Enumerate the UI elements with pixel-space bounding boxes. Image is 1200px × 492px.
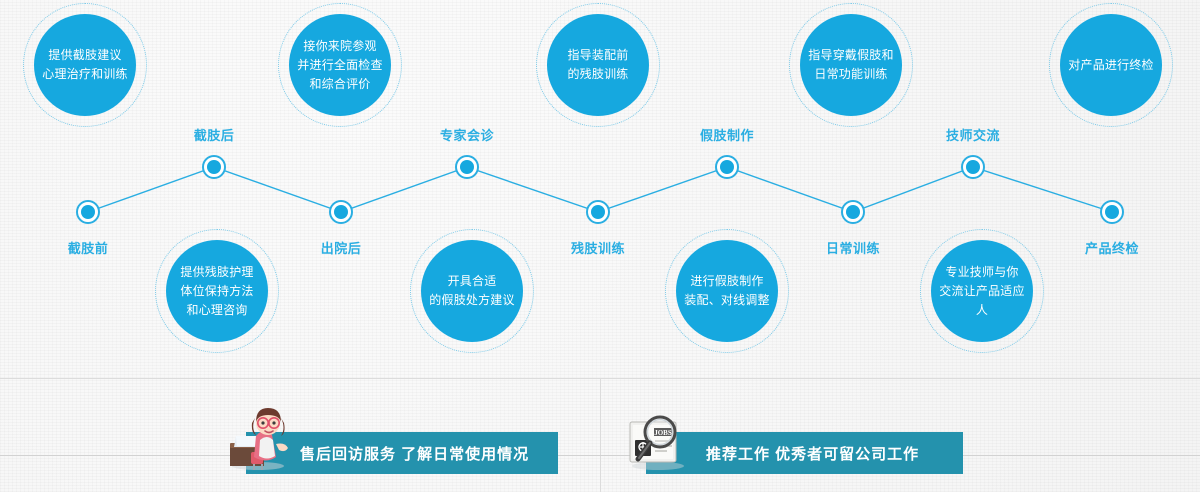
timeline-node[interactable] xyxy=(76,200,100,224)
timeline-node-dot xyxy=(591,205,605,219)
timeline-node-label: 技师交流 xyxy=(946,125,1000,144)
timeline-node-dot xyxy=(720,160,734,174)
info-bubble-text: 专业技师与你 交流让产品适应人 xyxy=(931,240,1033,342)
timeline-node[interactable] xyxy=(329,200,353,224)
info-bubble[interactable]: 指导穿戴假肢和 日常功能训练 xyxy=(789,3,913,127)
info-bubble[interactable]: 对产品进行终检 xyxy=(1049,3,1173,127)
timeline-node[interactable] xyxy=(455,155,479,179)
service-banner[interactable]: 售后回访服务 了解日常使用情况 xyxy=(246,432,558,474)
timeline-node-label: 截肢后 xyxy=(194,125,235,144)
service-banner-label: 推荐工作 优秀者可留公司工作 xyxy=(706,443,919,464)
info-bubble-text: 指导装配前 的残肢训练 xyxy=(547,14,649,116)
timeline-node[interactable] xyxy=(1100,200,1124,224)
banner-connector-left xyxy=(0,455,246,456)
timeline-node[interactable] xyxy=(586,200,610,224)
timeline-node-dot xyxy=(334,205,348,219)
timeline-node-label: 假肢制作 xyxy=(700,125,754,144)
timeline-node-label: 出院后 xyxy=(321,238,362,257)
infographic-canvas: 提供截肢建议 心理治疗和训练接你来院参观 并进行全面检查 和综合评价指导装配前 … xyxy=(0,0,1200,492)
timeline-node-dot xyxy=(81,205,95,219)
info-bubble[interactable]: 提供截肢建议 心理治疗和训练 xyxy=(23,3,147,127)
timeline-node-dot xyxy=(966,160,980,174)
banner-connector-right xyxy=(963,455,1200,456)
timeline-node-dot xyxy=(460,160,474,174)
info-bubble-text: 开具合适 的假肢处方建议 xyxy=(421,240,523,342)
timeline-node-label: 截肢前 xyxy=(68,238,109,257)
info-bubble-text: 对产品进行终检 xyxy=(1060,14,1162,116)
info-bubble-text: 进行假肢制作 装配、对线调整 xyxy=(676,240,778,342)
timeline-node[interactable] xyxy=(715,155,739,179)
timeline-node-label: 残肢训练 xyxy=(571,238,625,257)
banner-connector-middle xyxy=(558,455,646,456)
timeline-node-label: 日常训练 xyxy=(826,238,880,257)
service-banner[interactable]: 推荐工作 优秀者可留公司工作 xyxy=(646,432,963,474)
service-banner-label: 售后回访服务 了解日常使用情况 xyxy=(300,443,529,464)
timeline-node-label: 专家会诊 xyxy=(440,125,494,144)
info-bubble-text: 指导穿戴假肢和 日常功能训练 xyxy=(800,14,902,116)
section-divider-vertical xyxy=(600,379,601,492)
timeline-node[interactable] xyxy=(202,155,226,179)
info-bubble-text: 接你来院参观 并进行全面检查 和综合评价 xyxy=(289,14,391,116)
info-bubble[interactable]: 接你来院参观 并进行全面检查 和综合评价 xyxy=(278,3,402,127)
info-bubble[interactable]: 提供残肢护理 体位保持方法 和心理咨询 xyxy=(155,229,279,353)
timeline-node[interactable] xyxy=(841,200,865,224)
info-bubble[interactable]: 进行假肢制作 装配、对线调整 xyxy=(665,229,789,353)
timeline-node[interactable] xyxy=(961,155,985,179)
info-bubble-text: 提供残肢护理 体位保持方法 和心理咨询 xyxy=(166,240,268,342)
timeline-node-label: 产品终检 xyxy=(1085,238,1139,257)
timeline-node-dot xyxy=(1105,205,1119,219)
timeline-node-dot xyxy=(207,160,221,174)
info-bubble[interactable]: 开具合适 的假肢处方建议 xyxy=(410,229,534,353)
info-bubble-text: 提供截肢建议 心理治疗和训练 xyxy=(34,14,136,116)
timeline-node-dot xyxy=(846,205,860,219)
info-bubble[interactable]: 专业技师与你 交流让产品适应人 xyxy=(920,229,1044,353)
info-bubble[interactable]: 指导装配前 的残肢训练 xyxy=(536,3,660,127)
